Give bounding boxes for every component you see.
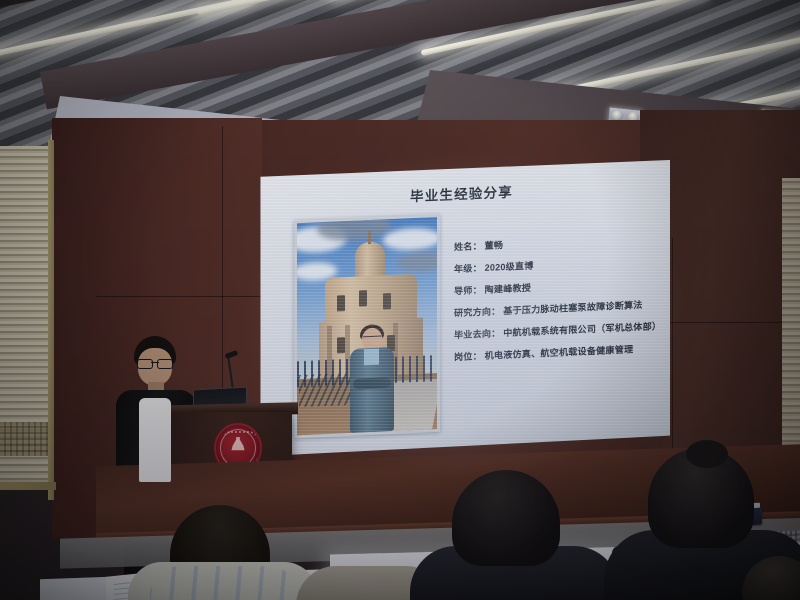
glasses-icon [137, 359, 173, 367]
acoustic-panel-frame [48, 140, 54, 500]
acoustic-panel-perforated-left [0, 422, 50, 456]
projection-screen: 毕业生经验分享 [258, 160, 670, 458]
audience-member-hair-bun [686, 440, 728, 468]
audience-member-top-pattern [150, 566, 298, 600]
wood-panel-seam [672, 238, 673, 458]
lecture-hall-scene: 毕业生经验分享 [0, 0, 800, 600]
wood-panel-seam [96, 296, 276, 297]
screen-scanline-texture [258, 160, 670, 458]
acoustic-panel-base [0, 482, 56, 490]
presenter-shirt-front [139, 398, 171, 482]
